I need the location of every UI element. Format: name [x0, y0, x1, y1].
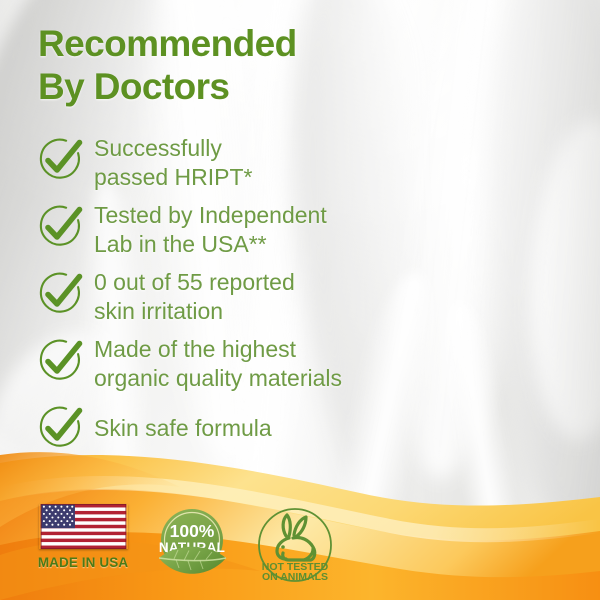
cruelty-free-badge: NOT TESTED ON ANIMALS — [249, 502, 341, 588]
list-item: 0 out of 55 reported skin irritation — [34, 267, 454, 326]
list-item-label: 0 out of 55 reported skin irritation — [94, 267, 295, 326]
check-circle-icon — [34, 401, 86, 453]
made-in-usa-caption: MADE IN USA — [30, 555, 136, 570]
check-circle-icon — [34, 133, 86, 185]
promo-graphic: Recommended By Doctors Successfully pass… — [0, 0, 600, 600]
list-item: Made of the highest organic quality mate… — [34, 334, 454, 393]
check-circle-icon — [34, 267, 86, 319]
list-item-label: Tested by Independent Lab in the USA** — [94, 200, 327, 259]
benefits-list: Successfully passed HRIPT* Tested by Ind… — [34, 133, 454, 461]
usa-flag-icon — [39, 504, 128, 549]
list-item: Skin safe formula — [34, 401, 454, 453]
trust-badges: MADE IN USA 100% NATURAL — [0, 498, 600, 588]
check-circle-icon — [34, 334, 86, 386]
list-item-label: Made of the highest organic quality mate… — [94, 334, 342, 393]
cruelty-free-line2: ON ANIMALS — [262, 571, 328, 583]
list-item-label: Skin safe formula — [94, 401, 272, 443]
made-in-usa-badge: MADE IN USA — [30, 504, 136, 570]
list-item: Successfully passed HRIPT* — [34, 133, 454, 192]
rabbit-icon — [277, 515, 315, 560]
natural-percent-text: 100% — [170, 521, 215, 541]
list-item-label: Successfully passed HRIPT* — [94, 133, 253, 192]
list-item: Tested by Independent Lab in the USA** — [34, 200, 454, 259]
natural-badge: 100% NATURAL — [146, 502, 238, 588]
check-circle-icon — [34, 200, 86, 252]
page-title: Recommended By Doctors — [38, 22, 297, 109]
